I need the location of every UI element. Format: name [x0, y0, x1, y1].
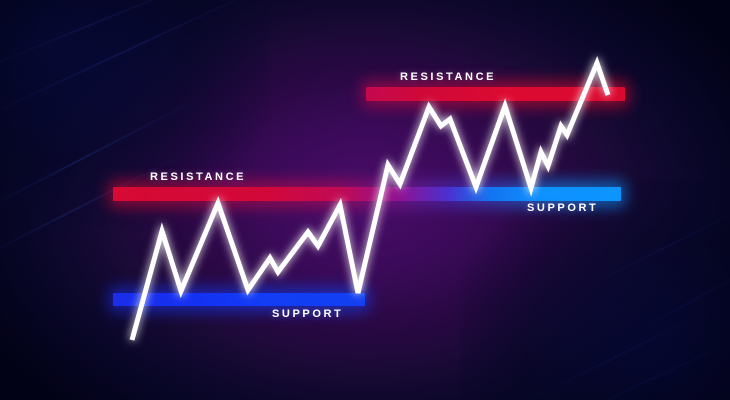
label-support-upper: SUPPORT: [527, 202, 598, 214]
support-level-bar-lower: [113, 293, 365, 306]
support-lower-core: [113, 293, 365, 306]
support-resistance-diagram: RESISTANCE RESISTANCE SUPPORT SUPPORT: [0, 0, 730, 400]
label-resistance-lower: RESISTANCE: [150, 171, 246, 183]
resistance-support-level-bar-middle: [113, 187, 621, 201]
label-support-lower: SUPPORT: [272, 308, 343, 320]
resistance-upper-core: [366, 87, 625, 101]
label-resistance-upper: RESISTANCE: [400, 71, 496, 83]
resistance-level-bar-upper: [366, 87, 625, 101]
middle-level-core: [113, 187, 621, 201]
